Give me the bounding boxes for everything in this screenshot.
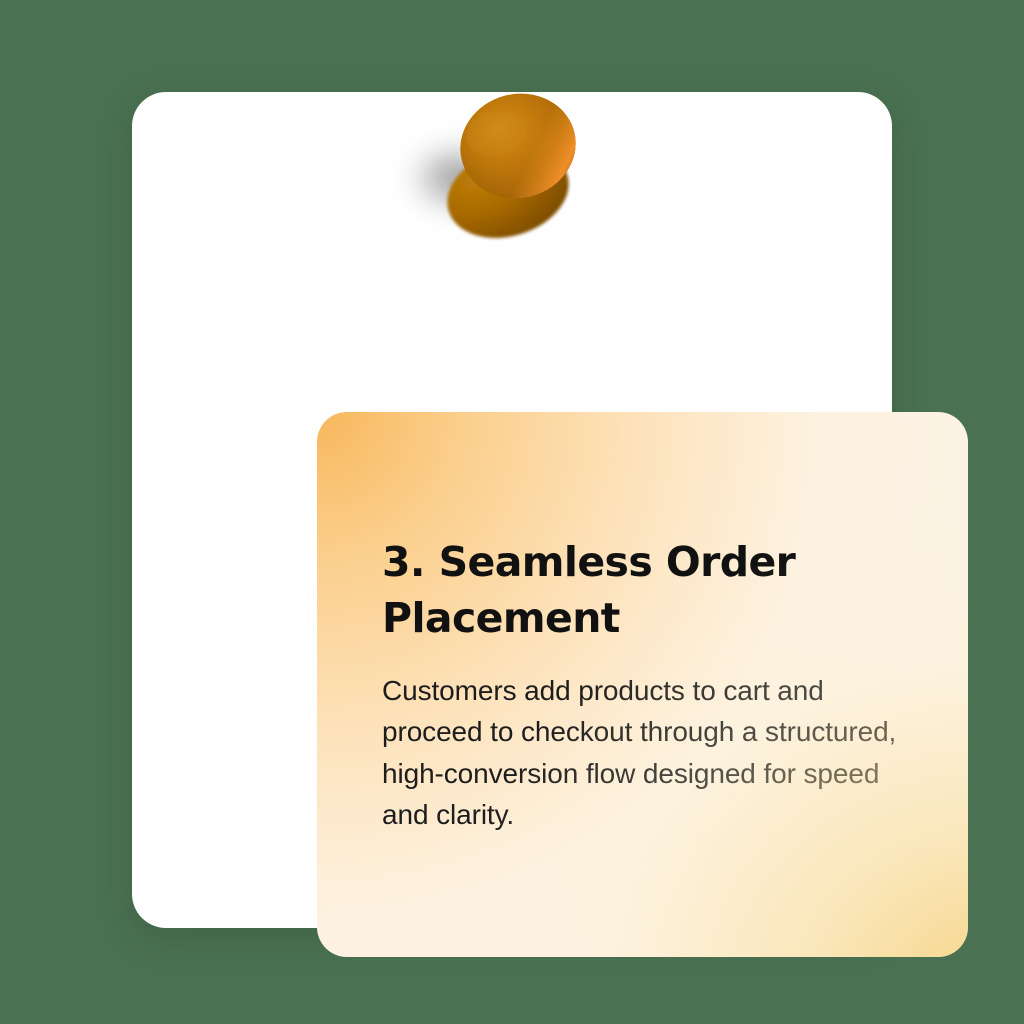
note-body-text: Customers add products to cart and proce… bbox=[382, 670, 916, 835]
page-background: 3. Seamless Order Placement Customers ad… bbox=[0, 0, 1024, 1024]
note-text-block: 3. Seamless Order Placement Customers ad… bbox=[382, 534, 916, 835]
pinned-note-card: 3. Seamless Order Placement Customers ad… bbox=[132, 92, 892, 928]
note-heading: 3. Seamless Order Placement bbox=[382, 534, 822, 646]
note-content-panel: 3. Seamless Order Placement Customers ad… bbox=[317, 412, 968, 957]
